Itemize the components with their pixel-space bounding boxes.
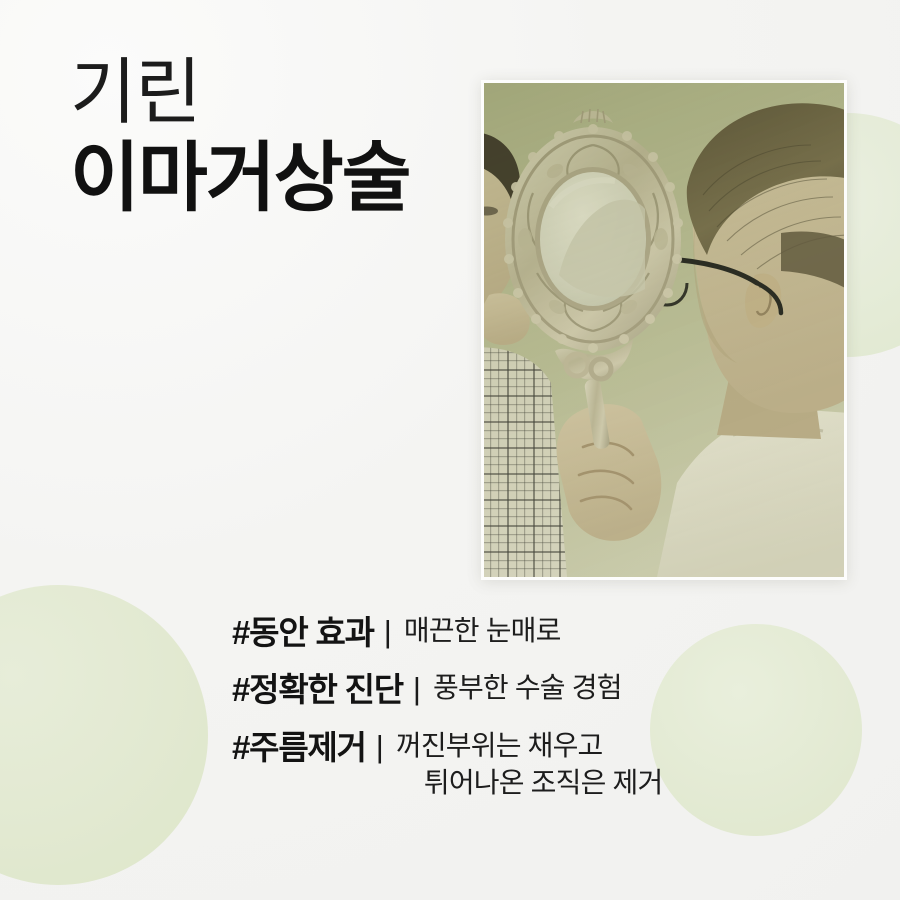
- feature-row: #주름제거 | 꺼진부위는 채우고 튀어나온 조직은 제거: [232, 727, 872, 802]
- feature-description: 꺼진부위는 채우고 튀어나온 조직은 제거: [396, 727, 663, 802]
- procedure-name: 이마거상술: [70, 138, 410, 220]
- decorative-circle-left: [0, 585, 208, 885]
- feature-description: 매끈한 눈매로: [404, 612, 561, 650]
- feature-description-line: 꺼진부위는 채우고: [396, 730, 603, 761]
- photo-illustration: [484, 83, 844, 577]
- clinic-name: 기린: [70, 56, 410, 132]
- feature-row: #정확한 진단 | 풍부한 수술 경험: [232, 669, 872, 710]
- feature-separator: |: [413, 669, 421, 709]
- poster-canvas: 기린 이마거상술: [0, 0, 900, 900]
- feature-tag: #주름제거: [232, 727, 366, 768]
- feature-description-line: 매끈한 눈매로: [404, 615, 561, 646]
- feature-separator: |: [384, 612, 392, 652]
- feature-description-line: 튀어나온 조직은 제거: [396, 764, 663, 802]
- hero-photo-frame: [481, 80, 847, 580]
- feature-separator: |: [376, 727, 384, 767]
- feature-tag: #동안 효과: [232, 612, 374, 653]
- feature-description-line: 풍부한 수술 경험: [433, 672, 622, 703]
- feature-row: #동안 효과 | 매끈한 눈매로: [232, 612, 872, 653]
- page-title: 기린 이마거상술: [70, 56, 410, 220]
- feature-list: #동안 효과 | 매끈한 눈매로 #정확한 진단 | 풍부한 수술 경험 #주름…: [232, 612, 872, 802]
- feature-tag: #정확한 진단: [232, 669, 403, 710]
- hero-photo: [484, 83, 844, 577]
- feature-description: 풍부한 수술 경험: [433, 669, 622, 707]
